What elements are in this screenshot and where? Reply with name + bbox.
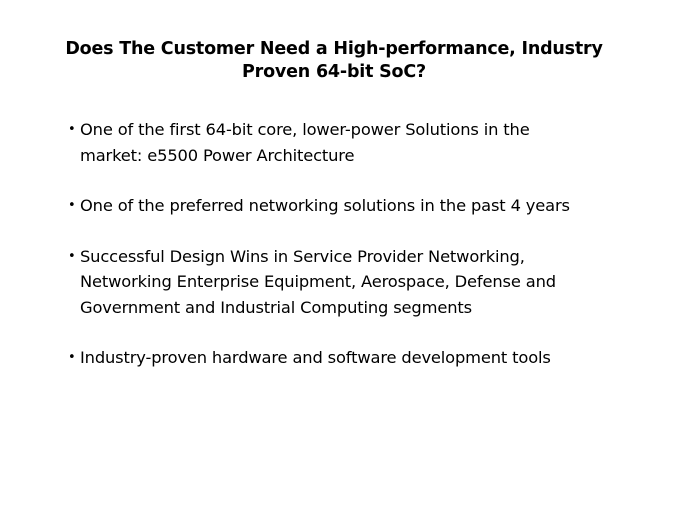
bullet-point-icon: • (68, 345, 80, 371)
page-title-line-2: Proven 64-bit SoC? (38, 61, 630, 84)
list-item-text: Successful Design Wins in Service Provid… (80, 244, 588, 321)
bullet-list: • One of the first 64-bit core, lower-po… (68, 117, 588, 371)
list-item: • One of the preferred networking soluti… (68, 193, 588, 219)
page-title: Does The Customer Need a High-performanc… (38, 38, 630, 84)
bullet-point-icon: • (68, 117, 80, 143)
slide-canvas: Does The Customer Need a High-performanc… (0, 0, 675, 506)
list-item-text: One of the preferred networking solution… (80, 193, 588, 219)
bullet-point-icon: • (68, 244, 80, 270)
list-item: • Industry-proven hardware and software … (68, 345, 588, 371)
list-item-text: Industry-proven hardware and software de… (80, 345, 588, 371)
list-item: • One of the first 64-bit core, lower-po… (68, 117, 588, 168)
list-item-text: One of the first 64-bit core, lower-powe… (80, 117, 588, 168)
page-title-line-1: Does The Customer Need a High-performanc… (38, 38, 630, 61)
list-item: • Successful Design Wins in Service Prov… (68, 244, 588, 321)
bullet-point-icon: • (68, 193, 80, 219)
